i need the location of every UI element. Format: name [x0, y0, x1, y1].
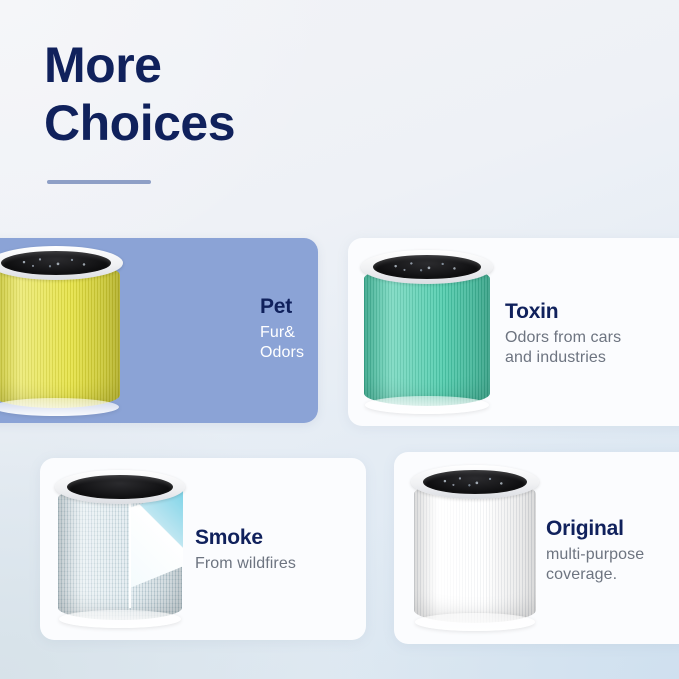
toxin-card-text: Toxin Odors from cars and industries	[505, 299, 679, 368]
pet-card-subtitle: Fur& Odors	[260, 323, 318, 363]
original-card-text: Original multi-purpose coverage.	[546, 516, 679, 585]
toxin-card-subtitle: Odors from cars and industries	[505, 328, 679, 368]
air-filter-icon	[0, 246, 120, 416]
smoke-card-illustration	[58, 470, 182, 628]
carbon-granules-icon	[6, 254, 106, 272]
air-filter-icon	[364, 250, 490, 414]
original-card-title: Original	[546, 516, 679, 542]
page-title-line-2: Choices	[44, 94, 374, 152]
smoke-card-subtitle: From wildfires	[195, 554, 366, 574]
product-card-smoke[interactable]: Smoke From wildfires	[40, 458, 366, 640]
page-title-line-1: More	[44, 36, 374, 94]
toxin-card-title: Toxin	[505, 299, 679, 325]
pet-card-text: Pet Fur& Odors	[260, 294, 318, 363]
pet-card-illustration	[0, 246, 120, 416]
title-underline-rule	[47, 180, 151, 184]
more-choices-page: More Choices Pet Fur& Odors	[0, 0, 679, 679]
filter-seam	[129, 488, 131, 608]
filter-body	[0, 262, 120, 408]
smoke-card-title: Smoke	[195, 525, 366, 551]
original-card-illustration	[414, 465, 536, 631]
pet-card-title: Pet	[260, 294, 318, 320]
filter-bottom-edge	[365, 396, 489, 414]
product-card-pet[interactable]: Pet Fur& Odors	[0, 238, 318, 423]
filter-inner-opening	[67, 475, 173, 499]
page-title: More Choices	[44, 36, 374, 152]
filter-body	[364, 266, 490, 406]
carbon-granules-icon	[428, 473, 522, 491]
product-card-original[interactable]: Original multi-purpose coverage.	[394, 452, 679, 644]
filter-bottom-edge	[59, 610, 181, 628]
air-filter-icon	[58, 470, 182, 628]
toxin-card-illustration	[364, 250, 490, 414]
original-card-subtitle: multi-purpose coverage.	[546, 545, 679, 585]
filter-body	[414, 481, 536, 623]
filter-bottom-edge	[415, 613, 535, 631]
air-filter-icon	[414, 465, 536, 631]
smoke-card-text: Smoke From wildfires	[195, 525, 366, 574]
carbon-granules-icon	[378, 258, 476, 276]
product-card-toxin[interactable]: Toxin Odors from cars and industries	[348, 238, 679, 426]
filter-bottom-edge	[0, 398, 119, 416]
